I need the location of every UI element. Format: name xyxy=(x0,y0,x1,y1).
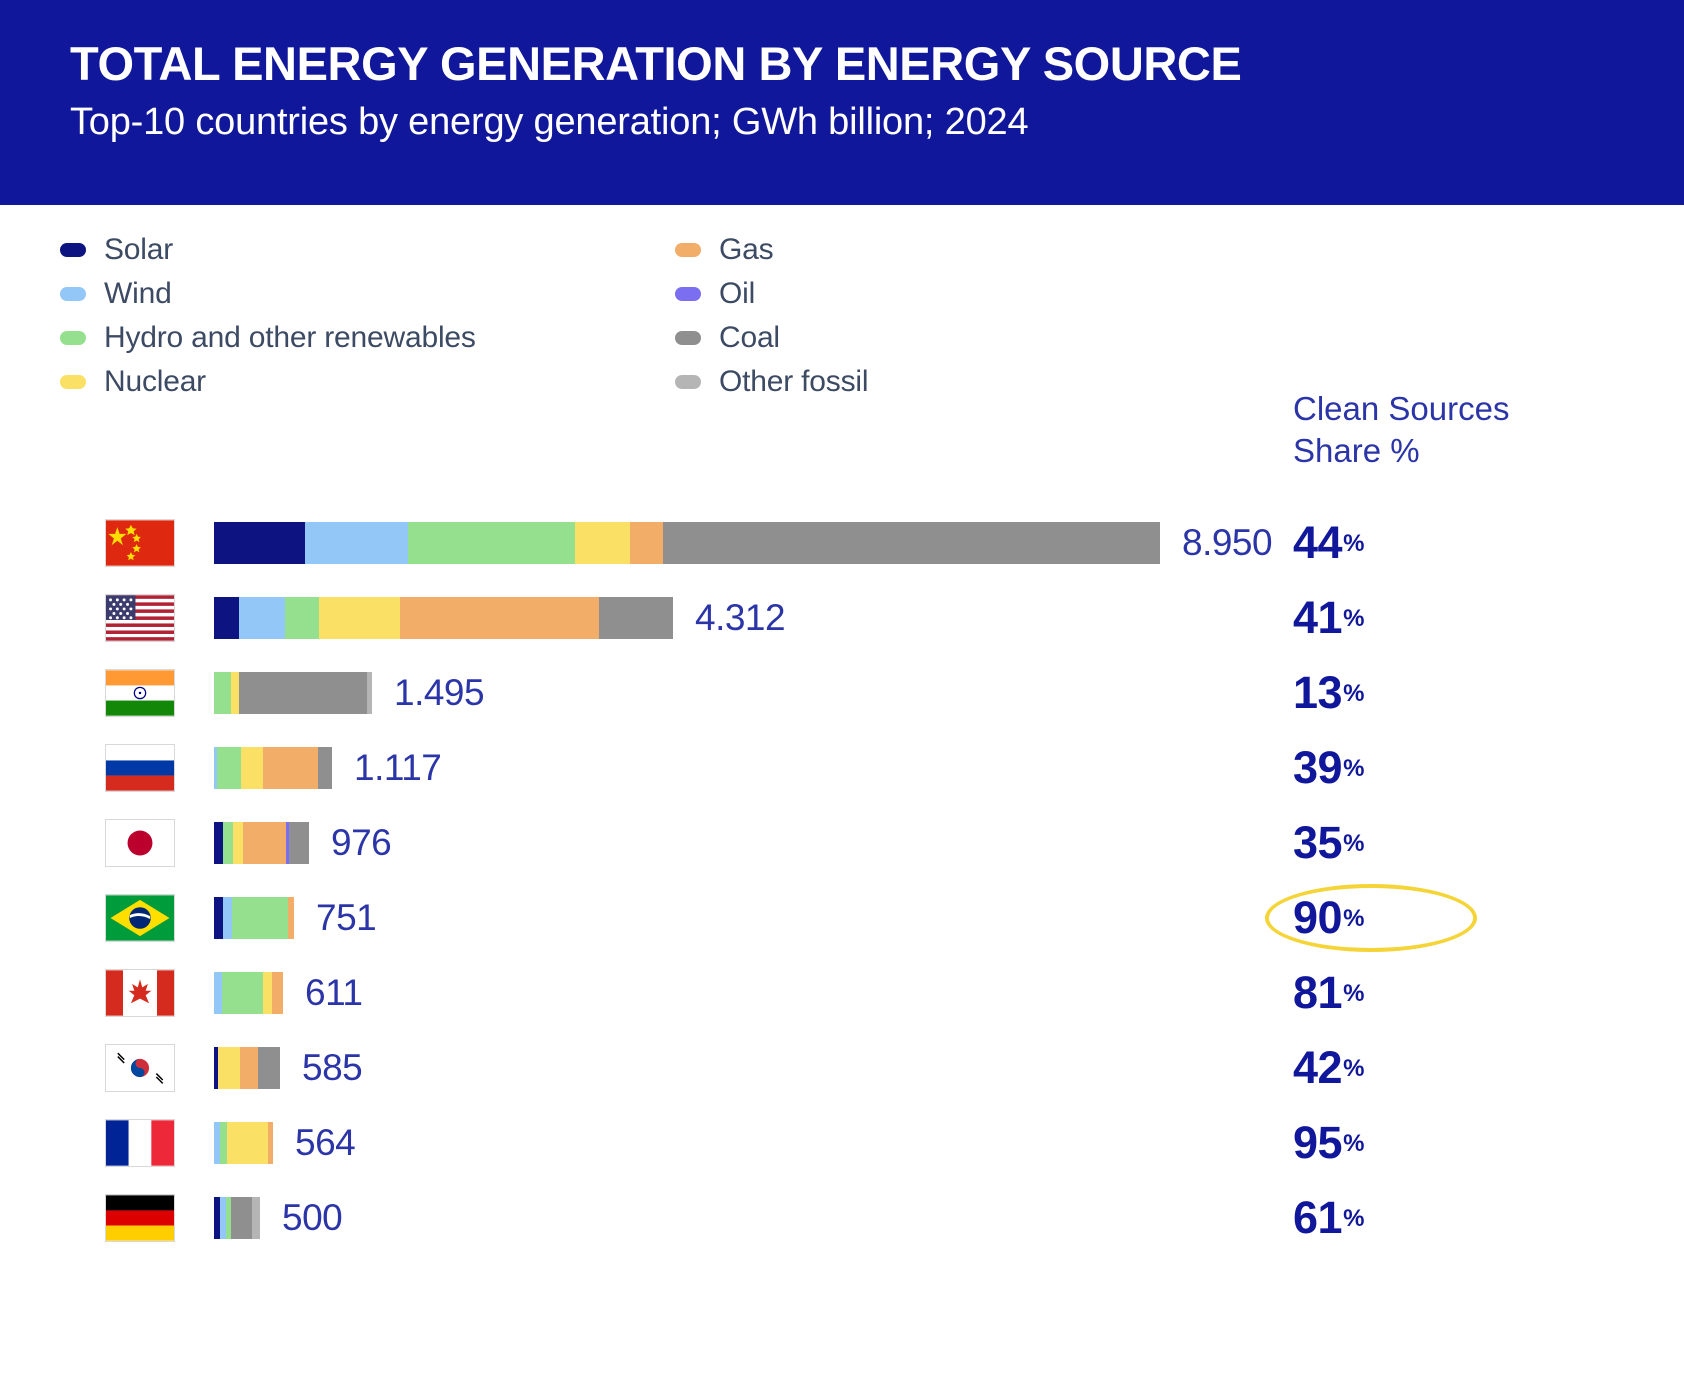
clean-share-value: 95% xyxy=(1293,1117,1493,1169)
clean-share-number: 44 xyxy=(1293,517,1342,568)
bar-value-label: 1.117 xyxy=(354,747,441,789)
br-flag-icon xyxy=(105,894,175,942)
clean-share-value: 61% xyxy=(1293,1192,1493,1244)
bar-segment[interactable] xyxy=(263,747,318,789)
bar-segment[interactable] xyxy=(222,972,263,1014)
bar-segment[interactable] xyxy=(263,972,272,1014)
bar-segment[interactable] xyxy=(285,597,319,639)
legend-column-left: SolarWindHydro and other renewablesNucle… xyxy=(60,228,476,404)
bar-segment[interactable] xyxy=(272,972,283,1014)
legend-swatch-icon xyxy=(60,243,86,257)
bar-segment[interactable] xyxy=(630,522,663,564)
clean-share-number: 90 xyxy=(1293,892,1342,943)
percent-symbol: % xyxy=(1343,1205,1364,1232)
stacked-bar[interactable] xyxy=(214,1047,280,1089)
bar-segment[interactable] xyxy=(232,897,288,939)
bar-segment[interactable] xyxy=(258,1047,280,1089)
chart-row: 56495% xyxy=(0,1105,1684,1180)
clean-share-number: 13 xyxy=(1293,667,1342,718)
clean-share-number: 61 xyxy=(1293,1192,1342,1243)
bar-segment[interactable] xyxy=(252,1197,260,1239)
chart-row: 4.31241% xyxy=(0,580,1684,655)
bar-segment[interactable] xyxy=(231,672,239,714)
bar-segment[interactable] xyxy=(599,597,673,639)
stacked-bar[interactable] xyxy=(214,747,332,789)
percent-symbol: % xyxy=(1343,830,1364,857)
bar-segment[interactable] xyxy=(217,747,241,789)
bar-segment[interactable] xyxy=(239,597,285,639)
percent-symbol: % xyxy=(1343,530,1364,557)
page-title: TOTAL ENERGY GENERATION BY ENERGY SOURCE xyxy=(70,36,1241,91)
clean-share-value: 39% xyxy=(1293,742,1493,794)
legend-swatch-icon xyxy=(60,375,86,389)
legend-item-label: Nuclear xyxy=(104,365,206,399)
clean-share-number: 39 xyxy=(1293,742,1342,793)
bar-segment[interactable] xyxy=(218,1047,240,1089)
stacked-bar[interactable] xyxy=(214,972,283,1014)
bar-segment[interactable] xyxy=(243,822,286,864)
legend-swatch-icon xyxy=(675,331,701,345)
stacked-bar[interactable] xyxy=(214,672,372,714)
clean-share-number: 95 xyxy=(1293,1117,1342,1168)
legend-item[interactable]: Oil xyxy=(675,272,868,316)
jp-flag-icon xyxy=(105,819,175,867)
clean-share-value: 13% xyxy=(1293,667,1493,719)
chart-row: 75190% xyxy=(0,880,1684,955)
legend-item-label: Coal xyxy=(719,321,780,355)
bar-value-label: 8.950 xyxy=(1182,522,1272,564)
bar-segment[interactable] xyxy=(214,522,305,564)
bar-segment[interactable] xyxy=(318,747,332,789)
percent-symbol: % xyxy=(1343,980,1364,1007)
stacked-bar[interactable] xyxy=(214,1197,260,1239)
legend-item-label: Hydro and other renewables xyxy=(104,321,476,355)
bar-segment[interactable] xyxy=(575,522,630,564)
bar-value-label: 1.495 xyxy=(394,672,484,714)
percent-symbol: % xyxy=(1343,1130,1364,1157)
clean-share-value: 35% xyxy=(1293,817,1493,869)
clean-share-value: 42% xyxy=(1293,1042,1493,1094)
stacked-bar[interactable] xyxy=(214,897,294,939)
bar-segment[interactable] xyxy=(240,1047,258,1089)
bar-segment[interactable] xyxy=(231,1197,252,1239)
chart-row: 58542% xyxy=(0,1030,1684,1105)
bar-value-label: 585 xyxy=(302,1047,362,1089)
bar-segment[interactable] xyxy=(239,672,367,714)
de-flag-icon xyxy=(105,1194,175,1242)
percent-symbol: % xyxy=(1343,1055,1364,1082)
legend-swatch-icon xyxy=(675,287,701,301)
legend-item[interactable]: Other fossil xyxy=(675,360,868,404)
bar-segment[interactable] xyxy=(214,972,222,1014)
legend-swatch-icon xyxy=(60,331,86,345)
bar-segment[interactable] xyxy=(367,672,372,714)
bar-value-label: 976 xyxy=(331,822,391,864)
bar-segment[interactable] xyxy=(214,597,239,639)
bar-segment[interactable] xyxy=(214,897,223,939)
legend-swatch-icon xyxy=(675,375,701,389)
legend-item-label: Solar xyxy=(104,233,173,267)
us-flag-icon xyxy=(105,594,175,642)
stacked-bar[interactable] xyxy=(214,597,673,639)
bar-segment[interactable] xyxy=(663,522,1160,564)
bar-value-label: 500 xyxy=(282,1197,342,1239)
bar-segment[interactable] xyxy=(408,522,575,564)
bar-segment[interactable] xyxy=(214,672,231,714)
legend-item[interactable]: Gas xyxy=(675,228,868,272)
bar-segment[interactable] xyxy=(223,897,232,939)
bar-segment[interactable] xyxy=(227,1122,268,1164)
legend-swatch-icon xyxy=(675,243,701,257)
ru-flag-icon xyxy=(105,744,175,792)
cn-flag-icon xyxy=(105,519,175,567)
chart-row: 1.11739% xyxy=(0,730,1684,805)
bar-value-label: 611 xyxy=(305,972,363,1014)
kr-flag-icon xyxy=(105,1044,175,1092)
clean-sources-share-line2: Share % xyxy=(1293,430,1593,472)
clean-share-number: 41 xyxy=(1293,592,1342,643)
clean-share-value: 44% xyxy=(1293,517,1493,569)
clean-sources-share-header: Clean Sources Share % xyxy=(1293,388,1593,472)
clean-share-number: 81 xyxy=(1293,967,1342,1018)
legend-item-label: Wind xyxy=(104,277,172,311)
percent-symbol: % xyxy=(1343,680,1364,707)
ca-flag-icon xyxy=(105,969,175,1017)
percent-symbol: % xyxy=(1343,755,1364,782)
percent-symbol: % xyxy=(1343,905,1364,932)
bar-segment[interactable] xyxy=(214,822,223,864)
clean-share-value: 41% xyxy=(1293,592,1493,644)
stacked-bar[interactable] xyxy=(214,522,1160,564)
clean-share-value: 81% xyxy=(1293,967,1493,1019)
bar-value-label: 4.312 xyxy=(695,597,785,639)
legend-item[interactable]: Solar xyxy=(60,228,476,272)
clean-share-number: 35 xyxy=(1293,817,1342,868)
chart-row: 1.49513% xyxy=(0,655,1684,730)
header-banner: TOTAL ENERGY GENERATION BY ENERGY SOURCE… xyxy=(0,0,1684,205)
bar-segment[interactable] xyxy=(241,747,263,789)
chart-rows: 8.95044%4.31241%1.49513%1.11739%97635%75… xyxy=(0,505,1684,1255)
bar-segment[interactable] xyxy=(400,597,599,639)
bar-segment[interactable] xyxy=(220,1122,227,1164)
stacked-bar[interactable] xyxy=(214,1122,273,1164)
bar-value-label: 751 xyxy=(316,897,376,939)
stacked-bar[interactable] xyxy=(214,822,309,864)
chart-row: 61181% xyxy=(0,955,1684,1030)
legend-item[interactable]: Coal xyxy=(675,316,868,360)
clean-share-value: 90% xyxy=(1293,892,1493,944)
legend-column-right: GasOilCoalOther fossil xyxy=(675,228,868,404)
bar-segment[interactable] xyxy=(233,822,243,864)
bar-segment[interactable] xyxy=(223,822,233,864)
legend-item-label: Oil xyxy=(719,277,755,311)
legend-item[interactable]: Nuclear xyxy=(60,360,476,404)
clean-share-number: 42 xyxy=(1293,1042,1342,1093)
chart-row: 8.95044% xyxy=(0,505,1684,580)
bar-segment[interactable] xyxy=(288,897,294,939)
legend-item[interactable]: Wind xyxy=(60,272,476,316)
chart-row: 50061% xyxy=(0,1180,1684,1255)
in-flag-icon xyxy=(105,669,175,717)
chart-page: TOTAL ENERGY GENERATION BY ENERGY SOURCE… xyxy=(0,0,1684,1382)
chart-row: 97635% xyxy=(0,805,1684,880)
legend-swatch-icon xyxy=(60,287,86,301)
bar-value-label: 564 xyxy=(295,1122,355,1164)
bar-segment[interactable] xyxy=(289,822,309,864)
page-subtitle: Top-10 countries by energy generation; G… xyxy=(70,101,1028,144)
legend-item-label: Other fossil xyxy=(719,365,868,399)
fr-flag-icon xyxy=(105,1119,175,1167)
bar-segment[interactable] xyxy=(319,597,400,639)
bar-segment[interactable] xyxy=(268,1122,273,1164)
legend-item-label: Gas xyxy=(719,233,773,267)
clean-sources-share-line1: Clean Sources xyxy=(1293,388,1593,430)
percent-symbol: % xyxy=(1343,605,1364,632)
legend-item[interactable]: Hydro and other renewables xyxy=(60,316,476,360)
bar-segment[interactable] xyxy=(305,522,408,564)
